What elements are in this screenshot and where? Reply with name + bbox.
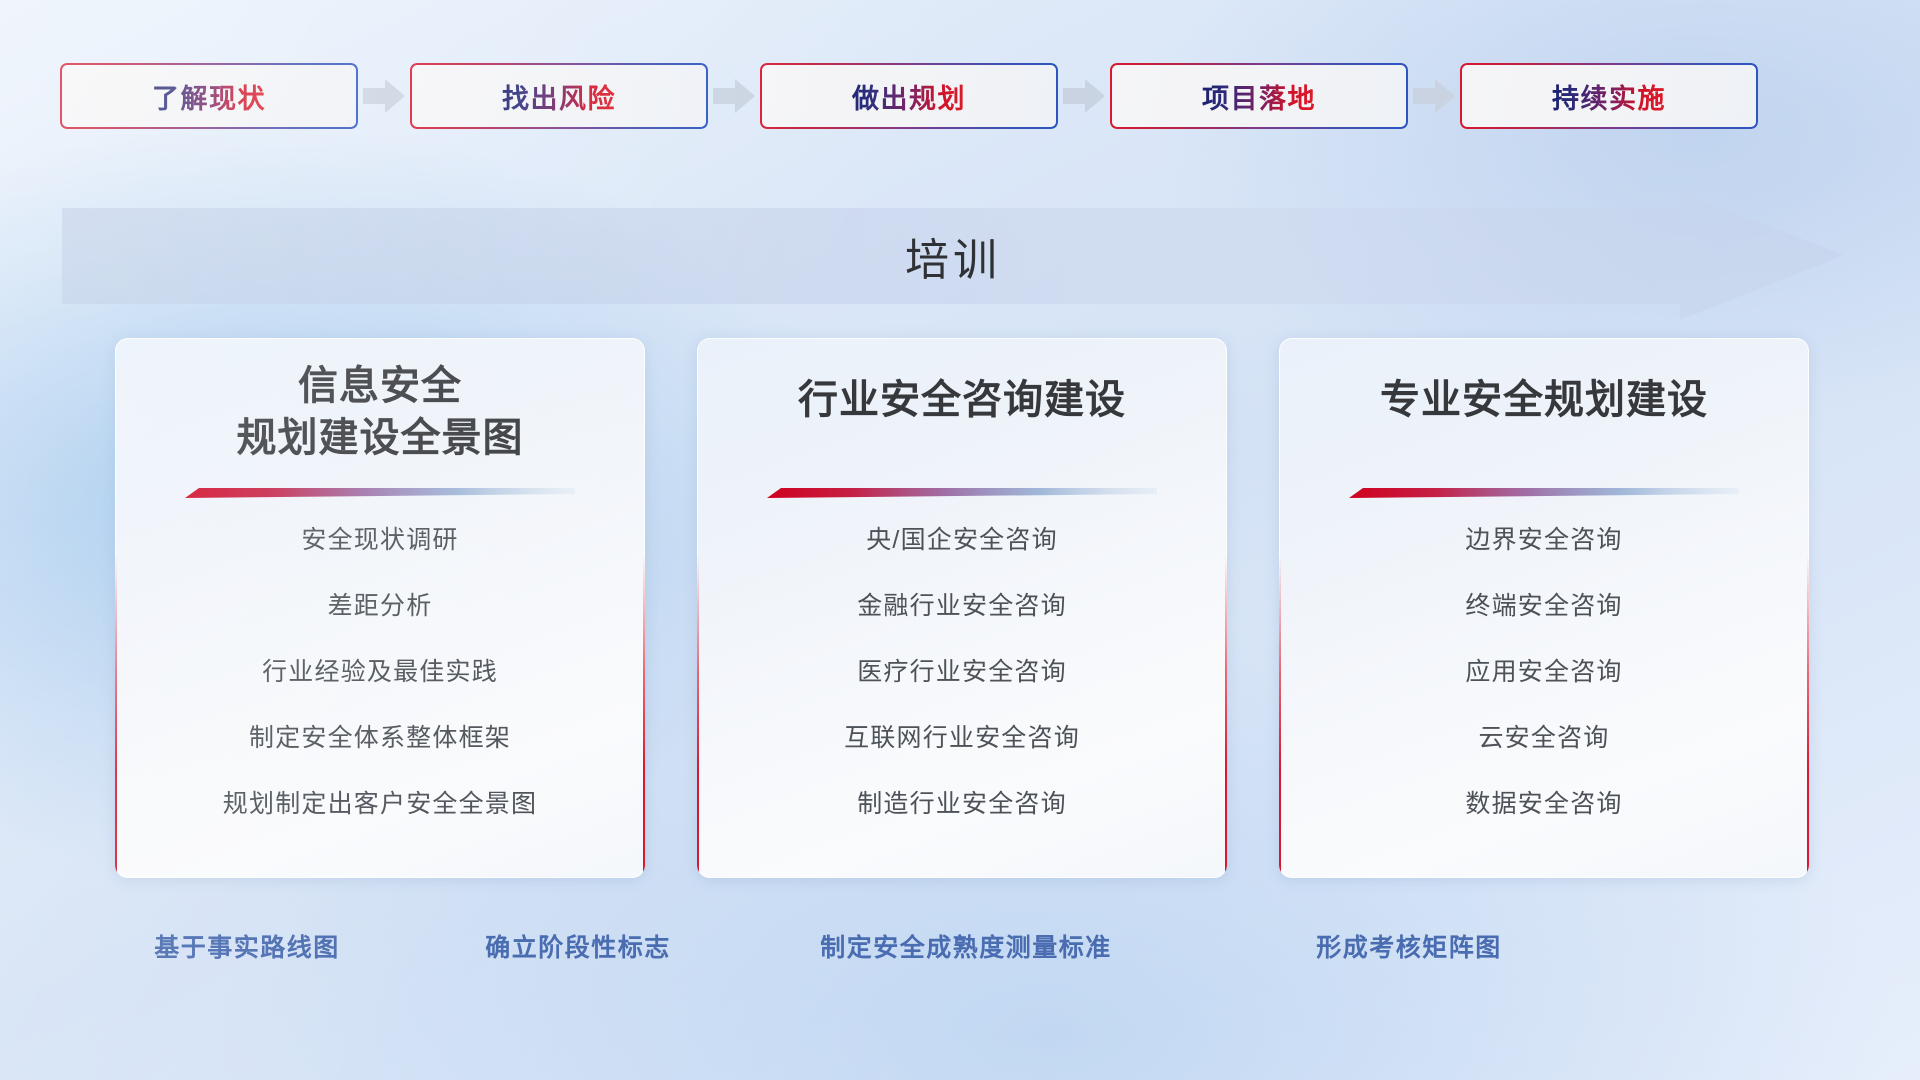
card-2-left-accent [697, 338, 699, 878]
step-box-4[interactable]: 项目落地 [1110, 63, 1408, 129]
footer-label-1: 基于事实路线图 [154, 928, 340, 964]
card-3-title: 专业安全规划建设 [1279, 374, 1809, 426]
card-2-divider-icon [767, 486, 1157, 504]
list-item: 制造行业安全咨询 [697, 792, 1227, 817]
card-row: 信息安全 规划建设全景图 安全现状调研 差距分析 行业经验及最佳实践 [0, 338, 1920, 878]
card-2[interactable]: 行业安全咨询建设 央/国企安全咨询 金融行业安全咨询 医疗行业安全咨询 互联网行… [697, 338, 1227, 878]
list-item: 终端安全咨询 [1279, 594, 1809, 619]
card-1-left-accent [115, 338, 117, 878]
card-3-left-accent [1279, 338, 1281, 878]
banner-title: 培训 [62, 192, 1844, 320]
card-1-divider-icon [185, 486, 575, 504]
card-2-right-accent [1225, 338, 1227, 878]
list-item: 医疗行业安全咨询 [697, 660, 1227, 685]
card-1-title: 信息安全 规划建设全景图 [115, 360, 645, 464]
step-label-3: 做出规划 [852, 77, 966, 116]
list-item: 行业经验及最佳实践 [115, 660, 645, 685]
step-arrow-icon-1 [358, 76, 410, 116]
step-box-2[interactable]: 找出风险 [410, 63, 708, 129]
list-item: 边界安全咨询 [1279, 528, 1809, 553]
card-1-list: 安全现状调研 差距分析 行业经验及最佳实践 制定安全体系整体框架 规划制定出客户… [115, 528, 645, 817]
card-3[interactable]: 专业安全规划建设 边界安全咨询 终端安全咨询 应用安全咨询 云安全咨询 数据安全… [1279, 338, 1809, 878]
slide-canvas: 了解现状 找出风险 做出规划 项目落地 [0, 0, 1920, 1080]
step-arrow-icon-2 [708, 76, 760, 116]
list-item: 规划制定出客户安全全景图 [115, 792, 645, 817]
card-2-list: 央/国企安全咨询 金融行业安全咨询 医疗行业安全咨询 互联网行业安全咨询 制造行… [697, 528, 1227, 817]
list-item: 云安全咨询 [1279, 726, 1809, 751]
step-box-5[interactable]: 持续实施 [1460, 63, 1758, 129]
card-3-divider-icon [1349, 486, 1739, 504]
step-arrow-icon-4 [1408, 76, 1460, 116]
card-1-right-accent [643, 338, 645, 878]
footer-label-4: 形成考核矩阵图 [1316, 928, 1502, 964]
footer-label-3: 制定安全成熟度测量标准 [820, 928, 1112, 964]
step-box-3[interactable]: 做出规划 [760, 63, 1058, 129]
list-item: 互联网行业安全咨询 [697, 726, 1227, 751]
step-label-5: 持续实施 [1552, 77, 1666, 116]
card-3-list: 边界安全咨询 终端安全咨询 应用安全咨询 云安全咨询 数据安全咨询 [1279, 528, 1809, 817]
list-item: 应用安全咨询 [1279, 660, 1809, 685]
process-step-row: 了解现状 找出风险 做出规划 项目落地 [60, 62, 1860, 130]
card-2-title: 行业安全咨询建设 [697, 374, 1227, 426]
step-box-1[interactable]: 了解现状 [60, 63, 358, 129]
card-1[interactable]: 信息安全 规划建设全景图 安全现状调研 差距分析 行业经验及最佳实践 [115, 338, 645, 878]
list-item: 央/国企安全咨询 [697, 528, 1227, 553]
step-label-2: 找出风险 [502, 77, 616, 116]
list-item: 数据安全咨询 [1279, 792, 1809, 817]
card-3-right-accent [1807, 338, 1809, 878]
footer-label-2: 确立阶段性标志 [485, 928, 671, 964]
step-label-1: 了解现状 [152, 77, 266, 116]
list-item: 安全现状调研 [115, 528, 645, 553]
training-banner: 培训 [62, 192, 1844, 320]
footer-label-row: 基于事实路线图 确立阶段性标志 制定安全成熟度测量标准 形成考核矩阵图 [0, 928, 1920, 974]
step-arrow-icon-3 [1058, 76, 1110, 116]
list-item: 制定安全体系整体框架 [115, 726, 645, 751]
list-item: 金融行业安全咨询 [697, 594, 1227, 619]
list-item: 差距分析 [115, 594, 645, 619]
step-label-4: 项目落地 [1202, 77, 1316, 116]
